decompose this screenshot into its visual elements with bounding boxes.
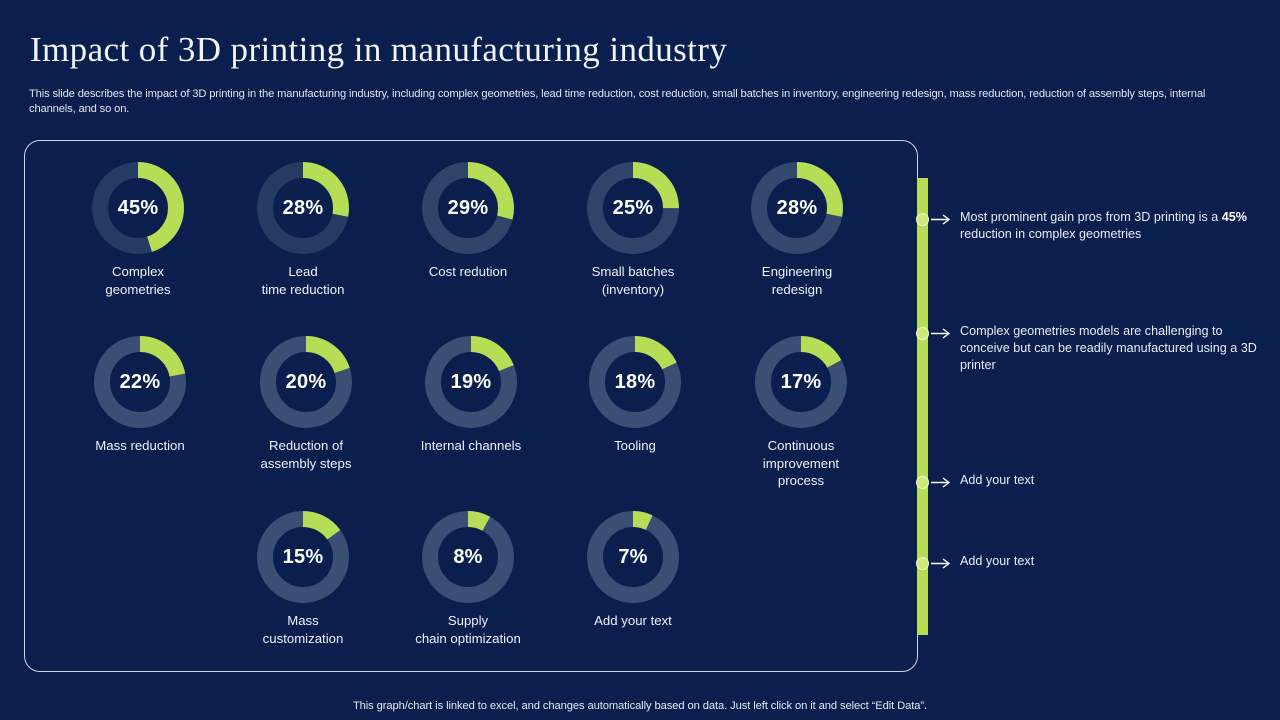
donut-cell[interactable]: 20%Reduction of assembly steps <box>221 336 391 472</box>
donut-cell[interactable]: 15%Mass customization <box>218 511 388 647</box>
donut-chart[interactable]: 15% <box>257 511 349 603</box>
donut-cell[interactable]: 25%Small batches (inventory) <box>548 162 718 298</box>
donut-category-label: Small batches (inventory) <box>548 263 718 298</box>
donut-category-label: Tooling <box>550 437 720 455</box>
bullet-dot-icon <box>916 327 929 340</box>
donut-value-label: 20% <box>260 336 352 428</box>
donut-value-label: 19% <box>425 336 517 428</box>
donut-value-label: 15% <box>257 511 349 603</box>
donut-category-label: Continuous improvement process <box>716 437 886 490</box>
annotation-text: Complex geometries models are challengin… <box>960 323 1260 374</box>
annotation-text: Most prominent gain pros from 3D printin… <box>960 209 1260 243</box>
donut-cell[interactable]: 45%Complex geometries <box>53 162 223 298</box>
donut-value-label: 17% <box>755 336 847 428</box>
donut-chart[interactable]: 7% <box>587 511 679 603</box>
slide-root: Impact of 3D printing in manufacturing i… <box>0 0 1280 720</box>
arrow-right-icon <box>931 476 953 489</box>
donut-chart[interactable]: 8% <box>422 511 514 603</box>
donut-value-label: 28% <box>751 162 843 254</box>
donut-category-label: Mass customization <box>218 612 388 647</box>
page-subtitle: This slide describes the impact of 3D pr… <box>29 87 1209 116</box>
donut-chart[interactable]: 28% <box>751 162 843 254</box>
donut-chart[interactable]: 25% <box>587 162 679 254</box>
donut-category-label: Cost redution <box>383 263 553 281</box>
donut-category-label: Reduction of assembly steps <box>221 437 391 472</box>
donut-cell[interactable]: 19%Internal channels <box>386 336 556 455</box>
donut-category-label: Internal channels <box>386 437 556 455</box>
donut-cell[interactable]: 29%Cost redution <box>383 162 553 281</box>
donut-chart[interactable]: 28% <box>257 162 349 254</box>
donut-category-label: Mass reduction <box>55 437 225 455</box>
donut-category-label: Supply chain optimization <box>383 612 553 647</box>
arrow-right-icon <box>931 327 953 340</box>
arrow-right-icon <box>931 557 953 570</box>
annotation-text: Add your text <box>960 553 1260 570</box>
bullet-dot-icon <box>916 476 929 489</box>
donut-cell[interactable]: 28%Lead time reduction <box>218 162 388 298</box>
donut-cell[interactable]: 28%Engineering redesign <box>712 162 882 298</box>
donut-value-label: 29% <box>422 162 514 254</box>
donut-cell[interactable]: 17%Continuous improvement process <box>716 336 886 490</box>
donut-chart[interactable]: 19% <box>425 336 517 428</box>
donut-chart[interactable]: 45% <box>92 162 184 254</box>
bullet-dot-icon <box>916 213 929 226</box>
annotation-text: Add your text <box>960 472 1260 489</box>
donut-value-label: 28% <box>257 162 349 254</box>
arrow-right-icon <box>931 213 953 226</box>
bullet-dot-icon <box>916 557 929 570</box>
donut-chart[interactable]: 17% <box>755 336 847 428</box>
page-title: Impact of 3D printing in manufacturing i… <box>30 30 727 70</box>
donut-category-label: Add your text <box>548 612 718 630</box>
donut-category-label: Complex geometries <box>53 263 223 298</box>
donut-value-label: 7% <box>587 511 679 603</box>
donut-value-label: 22% <box>94 336 186 428</box>
donut-cell[interactable]: 18%Tooling <box>550 336 720 455</box>
donut-value-label: 8% <box>422 511 514 603</box>
donut-cell[interactable]: 22%Mass reduction <box>55 336 225 455</box>
footer-note: This graph/chart is linked to excel, and… <box>0 700 1280 712</box>
donut-chart[interactable]: 29% <box>422 162 514 254</box>
donut-chart[interactable]: 22% <box>94 336 186 428</box>
donut-chart[interactable]: 20% <box>260 336 352 428</box>
donut-value-label: 18% <box>589 336 681 428</box>
donut-value-label: 45% <box>92 162 184 254</box>
donut-chart[interactable]: 18% <box>589 336 681 428</box>
donut-value-label: 25% <box>587 162 679 254</box>
donut-cell[interactable]: 7%Add your text <box>548 511 718 630</box>
donut-cell[interactable]: 8%Supply chain optimization <box>383 511 553 647</box>
donut-category-label: Lead time reduction <box>218 263 388 298</box>
donut-category-label: Engineering redesign <box>712 263 882 298</box>
